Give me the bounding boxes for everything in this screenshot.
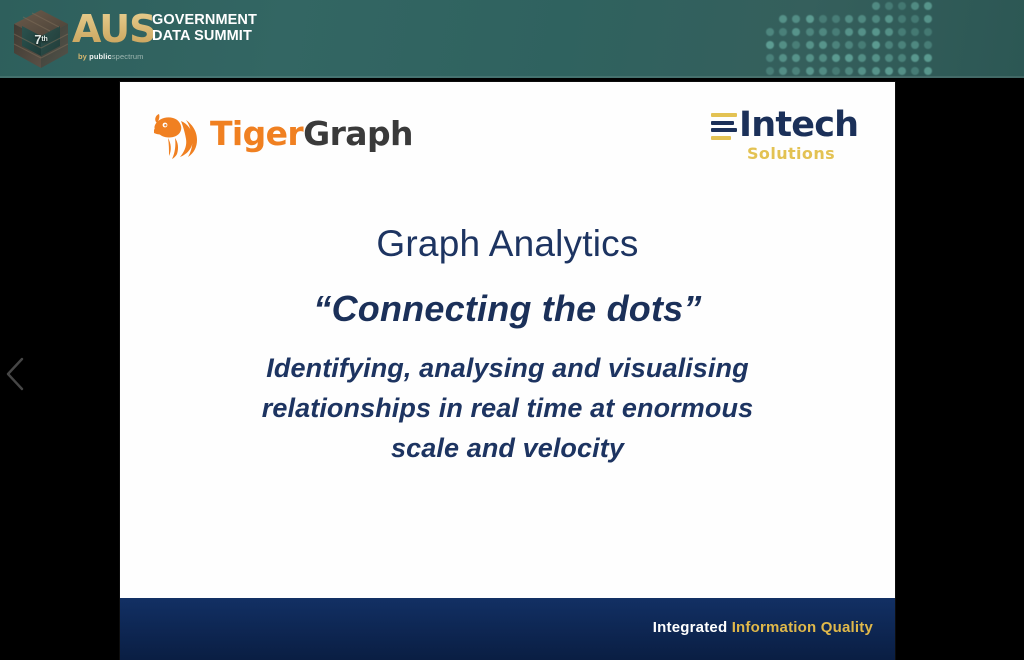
matrix-dot bbox=[885, 15, 893, 23]
event-header-bar: 7th AUS GOVERNMENT DATA SUMMIT by public… bbox=[0, 0, 1024, 78]
matrix-dot bbox=[858, 28, 866, 36]
slide-subtext-line-3: scale and velocity bbox=[168, 428, 847, 468]
tigergraph-wordmark: TigerGraph bbox=[210, 117, 413, 151]
matrix-dot bbox=[885, 28, 893, 36]
tigergraph-word-graph: Graph bbox=[303, 114, 413, 153]
matrix-dot bbox=[819, 28, 827, 36]
matrix-dot bbox=[872, 28, 880, 36]
matrix-dot bbox=[885, 54, 893, 62]
byline-brand-public: public bbox=[89, 52, 112, 61]
matrix-dot bbox=[845, 54, 853, 62]
byline-by: by bbox=[78, 52, 89, 61]
intech-tagline: Solutions bbox=[747, 144, 835, 163]
matrix-dot bbox=[924, 67, 932, 75]
matrix-dot bbox=[779, 54, 787, 62]
matrix-dot bbox=[779, 28, 787, 36]
slide-subtext-line-2: relationships in real time at enormous bbox=[168, 388, 847, 428]
slide-content-area: TigerGraph Intech Solutions Graph Analyt… bbox=[120, 82, 895, 598]
matrix-dot bbox=[832, 41, 840, 49]
tigergraph-word-tiger: Tiger bbox=[210, 114, 303, 153]
matrix-dot bbox=[832, 54, 840, 62]
summit-edition: 7th bbox=[8, 6, 74, 72]
matrix-dot bbox=[858, 67, 866, 75]
matrix-dot bbox=[858, 54, 866, 62]
matrix-dot bbox=[898, 67, 906, 75]
matrix-dot bbox=[806, 54, 814, 62]
stacked-bar-1 bbox=[711, 113, 737, 117]
summit-subtitle: GOVERNMENT DATA SUMMIT bbox=[152, 12, 272, 44]
slide-subtext: Identifying, analysing and visualising r… bbox=[120, 348, 895, 468]
matrix-dot bbox=[885, 67, 893, 75]
slide-subtext-line-1: Identifying, analysing and visualising bbox=[168, 348, 847, 388]
matrix-dot bbox=[911, 67, 919, 75]
matrix-dot bbox=[924, 54, 932, 62]
matrix-dot bbox=[779, 15, 787, 23]
matrix-dot bbox=[766, 54, 774, 62]
matrix-dot bbox=[911, 15, 919, 23]
matrix-dot bbox=[779, 67, 787, 75]
matrix-dot bbox=[806, 41, 814, 49]
footer-tagline: Integrated Information Quality bbox=[653, 619, 873, 636]
summit-logo: 7th AUS GOVERNMENT DATA SUMMIT by public… bbox=[6, 4, 266, 74]
matrix-dot bbox=[911, 2, 919, 10]
summit-aus-text: AUS bbox=[72, 10, 155, 48]
summit-subtitle-line1: GOVERNMENT bbox=[152, 12, 272, 28]
matrix-dot bbox=[845, 28, 853, 36]
matrix-dot bbox=[898, 41, 906, 49]
slide[interactable]: TigerGraph Intech Solutions Graph Analyt… bbox=[120, 82, 895, 660]
matrix-dot bbox=[792, 41, 800, 49]
matrix-dot bbox=[872, 15, 880, 23]
matrix-dot bbox=[858, 41, 866, 49]
matrix-dot bbox=[832, 67, 840, 75]
stacked-bar-3 bbox=[711, 128, 737, 132]
matrix-dot bbox=[911, 28, 919, 36]
matrix-dot bbox=[766, 28, 774, 36]
matrix-dot bbox=[911, 54, 919, 62]
presentation-stage: 7th AUS GOVERNMENT DATA SUMMIT by public… bbox=[0, 0, 1024, 660]
matrix-dot bbox=[806, 15, 814, 23]
stacked-bar-2 bbox=[711, 121, 734, 125]
summit-byline: by publicspectrum bbox=[78, 52, 143, 61]
matrix-dot bbox=[792, 15, 800, 23]
matrix-dot bbox=[819, 54, 827, 62]
matrix-dot bbox=[898, 2, 906, 10]
matrix-dot bbox=[819, 67, 827, 75]
chevron-left-icon bbox=[2, 356, 30, 392]
matrix-dot bbox=[872, 67, 880, 75]
summit-subtitle-line2: DATA SUMMIT bbox=[152, 28, 272, 44]
matrix-dot bbox=[832, 15, 840, 23]
matrix-dot bbox=[872, 54, 880, 62]
footer-tagline-integrated: Integrated bbox=[653, 619, 732, 636]
matrix-dot bbox=[898, 15, 906, 23]
matrix-dot bbox=[845, 41, 853, 49]
matrix-dot bbox=[885, 41, 893, 49]
slide-heading: Graph Analytics bbox=[120, 222, 895, 266]
matrix-dot bbox=[845, 67, 853, 75]
byline-brand-spectrum: spectrum bbox=[112, 52, 144, 61]
matrix-dot bbox=[872, 2, 880, 10]
dot-matrix-decoration bbox=[766, 0, 946, 78]
matrix-dot bbox=[792, 54, 800, 62]
matrix-dot bbox=[832, 28, 840, 36]
prev-slide-button[interactable] bbox=[2, 356, 30, 392]
matrix-dot bbox=[924, 41, 932, 49]
footer-tagline-info-quality: Information Quality bbox=[732, 619, 873, 636]
matrix-dot bbox=[924, 28, 932, 36]
matrix-dot bbox=[885, 2, 893, 10]
matrix-dot bbox=[806, 67, 814, 75]
matrix-dot bbox=[766, 41, 774, 49]
slide-quote: “Connecting the dots” bbox=[120, 288, 895, 330]
matrix-dot bbox=[898, 54, 906, 62]
matrix-dot bbox=[845, 15, 853, 23]
matrix-dot bbox=[872, 41, 880, 49]
stacked-bars-icon bbox=[711, 113, 739, 143]
matrix-dot bbox=[806, 28, 814, 36]
matrix-dot bbox=[924, 2, 932, 10]
tiger-head-icon bbox=[148, 108, 204, 160]
matrix-dot bbox=[766, 67, 774, 75]
matrix-dot bbox=[898, 28, 906, 36]
matrix-dot bbox=[819, 41, 827, 49]
intech-name: Intech bbox=[739, 104, 858, 146]
slide-text-block: Graph Analytics “Connecting the dots” Id… bbox=[120, 222, 895, 468]
matrix-dot bbox=[792, 67, 800, 75]
matrix-dot bbox=[819, 15, 827, 23]
stacked-bar-4 bbox=[711, 136, 731, 140]
matrix-dot bbox=[792, 28, 800, 36]
slide-footer-bar: Integrated Information Quality bbox=[120, 598, 895, 660]
tigergraph-logo: TigerGraph bbox=[148, 106, 413, 162]
matrix-dot bbox=[858, 15, 866, 23]
cube-icon: 7th bbox=[8, 6, 74, 72]
intech-solutions-logo: Intech Solutions bbox=[709, 104, 869, 166]
matrix-dot bbox=[911, 41, 919, 49]
matrix-dot bbox=[924, 15, 932, 23]
matrix-dot bbox=[779, 41, 787, 49]
